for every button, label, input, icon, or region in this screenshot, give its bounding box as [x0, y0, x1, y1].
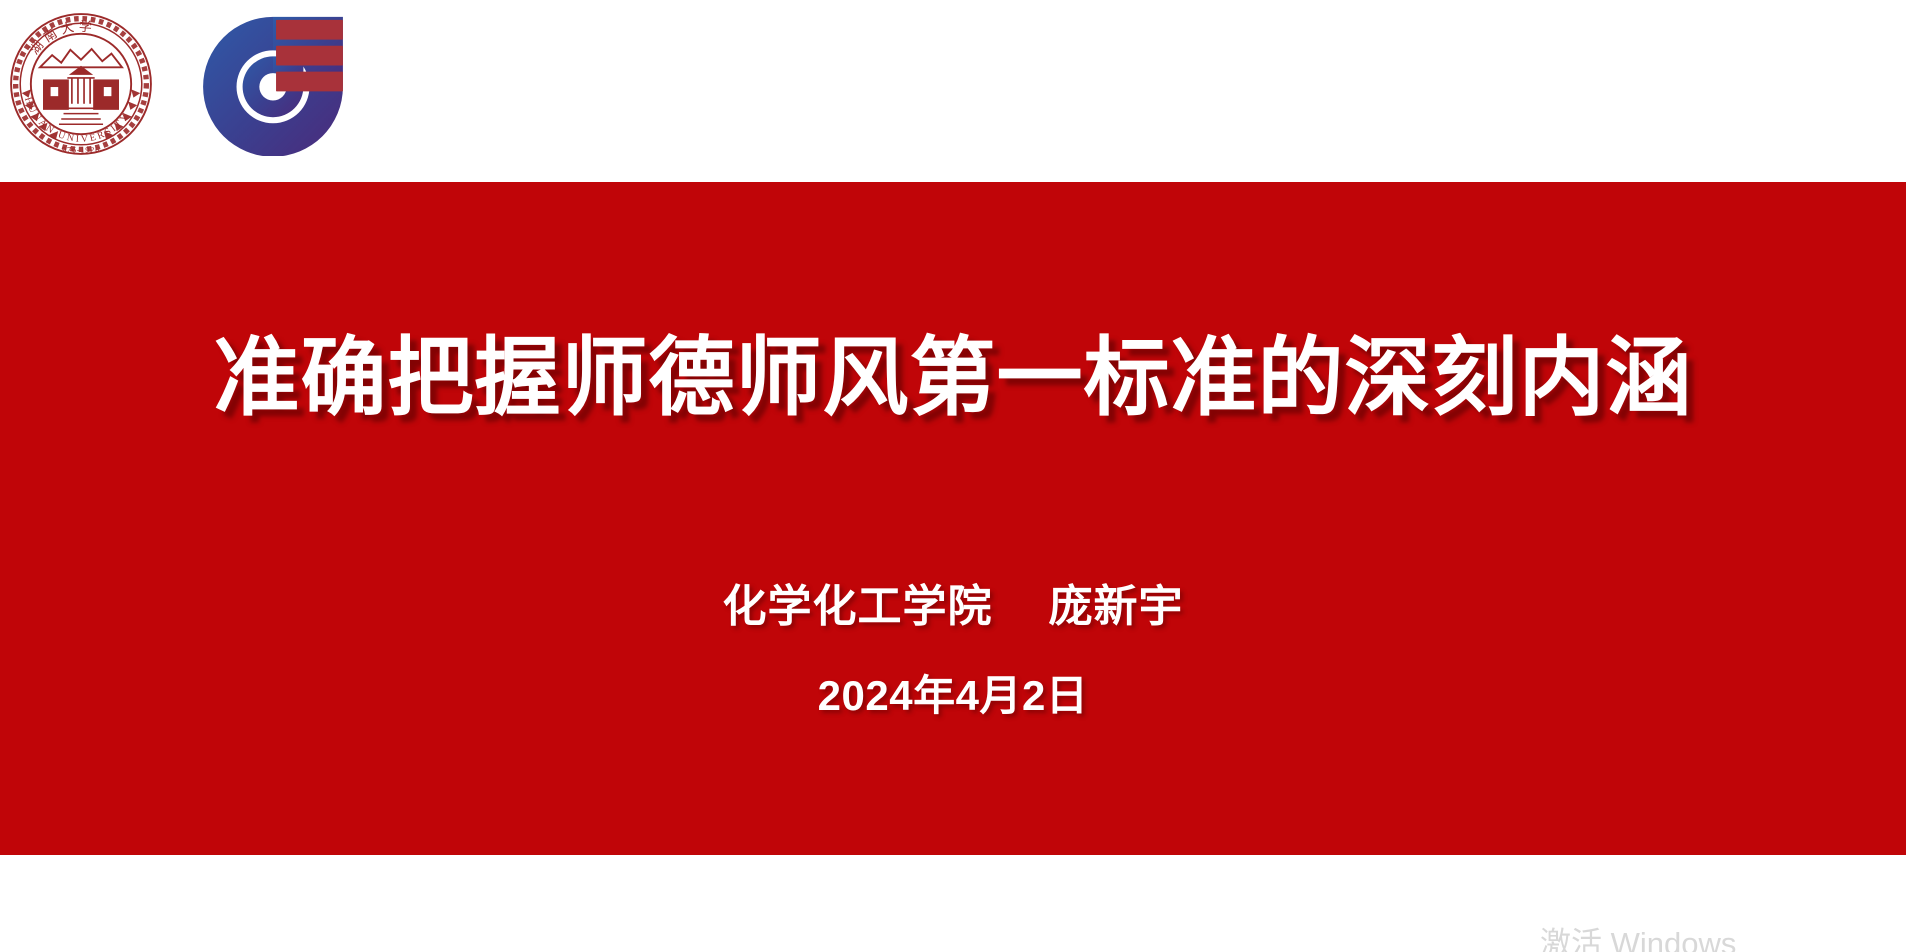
windows-activation-watermark: 激活 Windows 转到"设置"以激活 Windows。	[1540, 928, 1870, 952]
presenter-name: 庞新宇	[1049, 582, 1184, 631]
slide-header: 湖 南 大 学 HUNAN UNIVERSITY 976-1926	[0, 0, 1906, 182]
red-banner-background	[0, 182, 1906, 855]
presentation-slide: 湖 南 大 学 HUNAN UNIVERSITY 976-1926	[0, 0, 1906, 952]
slide-title: 准确把握师德师风第一标准的深刻内涵	[0, 330, 1906, 426]
svg-text:976-1926: 976-1926	[62, 145, 100, 154]
presenter-department: 化学化工学院	[723, 582, 993, 631]
presenter-line: 化学化工学院庞新宇	[0, 570, 1906, 634]
watermark-title: 激活 Windows	[1540, 926, 1736, 952]
hunan-university-seal-icon: 湖 南 大 学 HUNAN UNIVERSITY 976-1926	[5, 3, 157, 165]
slide-date: 2024年4月2日	[0, 662, 1906, 723]
svg-text:湖 南 大 学: 湖 南 大 学	[27, 18, 92, 57]
college-logo-icon	[197, 10, 349, 156]
